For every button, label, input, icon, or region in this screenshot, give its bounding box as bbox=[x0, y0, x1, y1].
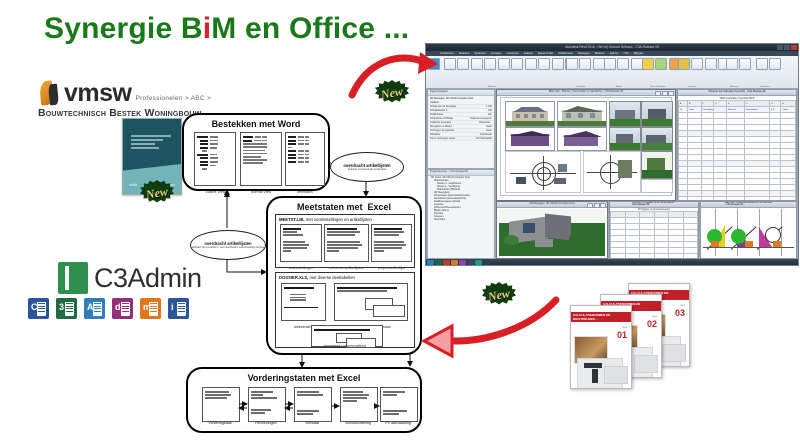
bestekken-word-box: Bestekken met Word Outline View Normal V bbox=[182, 113, 330, 191]
ribbon-deur-icon[interactable] bbox=[458, 58, 469, 74]
menu-item-architectuur[interactable]: Architectuur bbox=[440, 52, 454, 55]
ribbon-gordijnwand-icon[interactable] bbox=[552, 58, 563, 74]
render-photo-5 bbox=[641, 151, 673, 179]
dossier-xls-group: DOSSIER.XLS, met diverse deeltabellen ar… bbox=[275, 272, 415, 348]
dossier-bottom-label: begrotend / samenvattend bbox=[276, 344, 414, 348]
lib-label-voorinstellingen: voorinstellingen bbox=[281, 266, 321, 270]
threed-view-title: 3D Weergave: 3D Uitzicht Complex Oost bbox=[529, 202, 574, 205]
section-view-title: Blad: A02 - Dwarsdoorsneden en 3D-Isomet… bbox=[725, 202, 773, 206]
lib-label-referentie: referentie-artikellijsten bbox=[325, 266, 368, 270]
book-deel-label-01: deel bbox=[622, 326, 627, 329]
ribbon-tonen-icon[interactable] bbox=[726, 58, 737, 74]
doc-normal-view: Normal View bbox=[240, 132, 282, 186]
ribbon-referentievlak-icon[interactable] bbox=[705, 58, 716, 74]
book-band-title-01: CALCULATIENORMEN EN RICHTPRIJZEN ... bbox=[571, 312, 631, 323]
ribbon-verbergen-icon[interactable] bbox=[740, 58, 751, 74]
revit-ribbon[interactable]: Bouwen Circulatie Model Steun & Ruimte bbox=[426, 56, 798, 89]
ribbon-niveau-icon[interactable] bbox=[692, 58, 703, 74]
site-plan-2 bbox=[583, 151, 641, 193]
revit-window-title: Autodesk Revit 2016 - Het Vrij Gezond Ge… bbox=[565, 45, 659, 49]
ribbon-stramien-icon[interactable] bbox=[678, 58, 689, 74]
taskbar-app-6[interactable] bbox=[467, 260, 474, 265]
menu-item-structuur[interactable]: Structuur bbox=[459, 52, 470, 55]
doc-normal-label: Normal View bbox=[241, 190, 281, 194]
property-value[interactable]: Geen bbox=[486, 125, 492, 128]
vorderingstaten-excel-box: Vorderingstaten met Excel Vorderingstaat… bbox=[186, 367, 422, 433]
vord-connectors bbox=[188, 369, 420, 431]
ribbon-ruimteschema-icon[interactable] bbox=[656, 58, 667, 74]
meetstaten-title-b: Excel bbox=[368, 202, 392, 212]
ribbon-wand-icon[interactable] bbox=[444, 58, 455, 74]
slide-canvas: Synergie BiM en Office ... vmsw Professi… bbox=[0, 0, 800, 444]
maximize-icon bbox=[662, 91, 668, 97]
window-controls[interactable] bbox=[777, 45, 797, 50]
dossier-header-bold: DOSSIER.XLS, bbox=[279, 275, 308, 280]
detail-schedule-window[interactable]: Schema: A5 Opgave op de bouwmeester - C3… bbox=[609, 201, 699, 259]
meetst-lib-group: MEETST.LIB, met voorinstellingen en arti… bbox=[275, 214, 415, 268]
sheet-view-window[interactable]: Blad: A01 - Plannen, Doorsneden en Aanzi… bbox=[496, 89, 676, 201]
revit-application-window[interactable]: Autodesk Revit 2016 - Het Vrij Gezond Ge… bbox=[425, 43, 799, 266]
meetst-lib-header-rest: met voorinstellingen en artikellijsten bbox=[305, 217, 372, 222]
ribbon-venster-icon[interactable] bbox=[471, 58, 482, 74]
dossier-subpanel-deelmeetstaten bbox=[373, 305, 405, 317]
sheet-view-title: Blad: A01 - Plannen, Doorsneden en Aanzi… bbox=[549, 90, 623, 93]
revit-workspace[interactable]: Eigenschappen 3D Weergave: 3D Uitzicht C… bbox=[426, 88, 798, 259]
elevation-drawing-1 bbox=[505, 101, 555, 127]
property-name: Weergave en Model bbox=[430, 125, 451, 128]
property-value[interactable]: 1:100 bbox=[486, 105, 492, 108]
ribbon-leuning-icon[interactable] bbox=[593, 58, 604, 74]
properties-palette[interactable]: Eigenschappen 3D Weergave: 3D Uitzicht C… bbox=[427, 89, 495, 169]
taskbar-app-8[interactable] bbox=[483, 260, 490, 265]
render-photo-1 bbox=[609, 101, 641, 127]
property-row: Tonen Verbergen LijnenUit (Standaard) bbox=[428, 137, 494, 141]
threed-view-window[interactable]: 3D Weergave: 3D Uitzicht Complex Oost bbox=[496, 201, 608, 259]
taskbar-app-5[interactable] bbox=[459, 260, 466, 265]
section-view-window[interactable]: Blad: A02 - Dwarsdoorsneden en 3D-Isomet… bbox=[700, 201, 797, 259]
property-value[interactable]: Bewerken... bbox=[479, 121, 492, 124]
ribbon-modellijn-icon[interactable] bbox=[618, 58, 629, 74]
menu-item-invoegen[interactable]: Invoegen bbox=[491, 52, 502, 55]
browser-item[interactable]: Revit-links bbox=[428, 218, 494, 221]
callout-left-sub: afleiden uit overlopen / voor aanbieden … bbox=[192, 246, 264, 249]
ribbon-kolom-icon[interactable] bbox=[498, 58, 509, 74]
meetst-lib-header-bold: MEETST.LIB, bbox=[279, 217, 305, 222]
dossier-panel-gedetailleerd: gedetailleerde meetstaat bbox=[334, 283, 408, 321]
render-photo-4 bbox=[641, 127, 673, 151]
ribbon-vloer-icon[interactable] bbox=[539, 58, 550, 74]
lib-label-project: project-artikellijst bbox=[372, 266, 411, 270]
menu-item-addins[interactable]: Add-Ins bbox=[610, 52, 619, 55]
property-name: Onderdelen zichtbaar bbox=[430, 117, 453, 120]
section-drawing-2 bbox=[557, 127, 607, 151]
meetst-lib-header: MEETST.LIB, met voorinstellingen en arti… bbox=[276, 215, 414, 222]
property-value[interactable]: Uit (Standaard) bbox=[476, 137, 492, 140]
close-icon bbox=[668, 91, 674, 97]
property-name: Grafische weergave bbox=[430, 121, 451, 124]
sheet-titleblock bbox=[641, 179, 673, 193]
property-name: Schaal van de weergave bbox=[430, 105, 456, 108]
maximize-icon bbox=[784, 45, 790, 50]
schedule-window[interactable]: Schema: A4 Calculatie Overzicht - C3A-Re… bbox=[677, 89, 797, 201]
property-name: Schaalwaarde 1: bbox=[430, 109, 448, 112]
dossier-header-rest: met diverse deeltabellen bbox=[308, 275, 355, 280]
schedule-window-title: Schema: A4 Calculatie Overzicht - C3A-Re… bbox=[709, 90, 766, 93]
ribbon-dak-icon[interactable] bbox=[512, 58, 523, 74]
maximize-icon bbox=[594, 203, 600, 209]
taskbar-app-1[interactable] bbox=[427, 260, 434, 265]
book-number-03: 03 bbox=[675, 308, 685, 318]
callout-overdracht-right: overdracht artikellijsten selectie uit b… bbox=[330, 152, 404, 182]
menu-item-wijzigen[interactable]: Wijzigen bbox=[634, 52, 644, 55]
close-icon bbox=[600, 203, 606, 209]
close-icon bbox=[791, 45, 797, 50]
site-plan-1 bbox=[505, 151, 581, 193]
ribbon-uitsnijden-icon[interactable] bbox=[756, 58, 767, 74]
doc-outline-view: Outline View bbox=[194, 132, 236, 186]
lib-panel-referentie: referentie-artikellijsten bbox=[324, 224, 369, 262]
menu-item-massa-site[interactable]: Massa & Site bbox=[538, 52, 553, 55]
book-band-01: CALCULATIENORMEN EN RICHTPRIJZEN ... bbox=[571, 312, 631, 322]
book-number-02: 02 bbox=[647, 319, 657, 329]
ribbon-trap-icon[interactable] bbox=[566, 58, 577, 74]
detail-schedule-table[interactable] bbox=[610, 211, 698, 259]
minimize-icon bbox=[587, 203, 593, 209]
taskbar-app-7[interactable] bbox=[475, 260, 482, 265]
doc-meettabel: Meettabel bbox=[285, 132, 325, 186]
dossier-panel-artikelmatrix: artikelmatrix bbox=[281, 283, 326, 321]
doc-meettabel-label: Meettabel bbox=[286, 190, 324, 194]
taskbar-app-3[interactable] bbox=[443, 260, 450, 265]
schedule-table[interactable]: ABCDEFGH NrCodeOmschrijvingEenheidHoevee… bbox=[678, 100, 796, 201]
property-value[interactable]: 100 bbox=[488, 109, 492, 112]
doc-outline-label: Outline View bbox=[195, 190, 235, 194]
render-photo-3 bbox=[609, 127, 641, 151]
menu-item-analyse[interactable]: Analyse bbox=[524, 52, 533, 55]
ribbon-verbinden-icon[interactable] bbox=[770, 58, 781, 74]
lib-panel-voorinstellingen: voorinstellingen bbox=[280, 224, 322, 262]
ribbon-modeltekst-icon[interactable] bbox=[604, 58, 615, 74]
lib-panel-project: project-artikellijst bbox=[371, 224, 412, 262]
revit-title-bar[interactable]: Autodesk Revit 2016 - Het Vrij Gezond Ge… bbox=[426, 44, 798, 51]
book-deel-label-03: deel bbox=[680, 304, 685, 307]
property-value[interactable]: Fijn bbox=[488, 113, 492, 116]
menu-item-annoteren[interactable]: Annoteren bbox=[507, 52, 519, 55]
elevation-drawing-2 bbox=[557, 101, 607, 127]
property-name: Tonen Verbergen Lijnen bbox=[430, 137, 455, 140]
menu-item-c3a[interactable]: C3A bbox=[624, 52, 629, 55]
menu-item-weergave[interactable]: Weergave bbox=[578, 52, 590, 55]
ribbon-ruimte-icon[interactable] bbox=[642, 58, 653, 74]
minimize-icon bbox=[655, 91, 661, 97]
section-drawing-1 bbox=[505, 127, 555, 151]
menu-item-systemen[interactable]: Systemen bbox=[474, 52, 486, 55]
taskbar-app-2[interactable] bbox=[435, 260, 442, 265]
meetstaten-title: Meetstaten met Excel bbox=[268, 202, 420, 212]
dossier-header: DOSSIER.XLS, met diverse deeltabellen bbox=[276, 273, 414, 280]
threed-viewport[interactable] bbox=[499, 209, 605, 256]
book-deel-label-02: deel bbox=[652, 315, 657, 318]
property-name: Discipline bbox=[430, 133, 440, 136]
property-value[interactable]: Coördinatie bbox=[480, 133, 492, 136]
minimize-icon bbox=[777, 45, 783, 50]
property-name: Verborgen lijn (aan/uit) bbox=[430, 129, 454, 132]
ribbon-modelgroep-icon[interactable] bbox=[631, 58, 642, 74]
bestekken-word-title: Bestekken met Word bbox=[184, 119, 328, 129]
taskbar-app-4[interactable] bbox=[451, 260, 458, 265]
book-number-01: 01 bbox=[617, 330, 627, 340]
windows-taskbar[interactable] bbox=[426, 259, 798, 265]
menu-item-collaboreren[interactable]: Collaboreren bbox=[558, 52, 573, 55]
project-browser[interactable]: Projectbrowser - C3A-Release09 3D Views:… bbox=[427, 169, 495, 259]
property-value[interactable]: Geen bbox=[486, 129, 492, 132]
ribbon-component-icon[interactable] bbox=[485, 58, 496, 74]
meetstaten-excel-box: Meetstaten met Excel MEETST.LIB, met voo… bbox=[266, 196, 422, 355]
render-photo-2 bbox=[641, 101, 673, 127]
property-name: Detailniveau bbox=[430, 113, 443, 116]
ribbon-wijzigen-icon[interactable] bbox=[428, 58, 439, 74]
ribbon-helling-icon[interactable] bbox=[580, 58, 591, 74]
ribbon-plafond-icon[interactable] bbox=[525, 58, 536, 74]
sheet-page bbox=[500, 97, 672, 196]
book-cover-01: CALCULATIENORMEN EN RICHTPRIJZEN ... dee… bbox=[570, 305, 632, 389]
meetstaten-title-a: Meetstaten met bbox=[297, 202, 363, 212]
detail-schedule-title: Schema: A5 Opgave op de bouwmeester - C3… bbox=[632, 202, 676, 206]
callout-overdracht-left: overdracht artikellijsten afleiden uit o… bbox=[190, 230, 266, 260]
property-value[interactable]: Origineel weergeven bbox=[470, 117, 492, 120]
menu-item-beheren[interactable]: Beheren bbox=[595, 52, 605, 55]
callout-right-sub: selectie uit bestek als onderdeel bbox=[348, 168, 386, 171]
section-viewport[interactable] bbox=[703, 209, 794, 256]
property-name: Grafisch bbox=[430, 101, 439, 104]
